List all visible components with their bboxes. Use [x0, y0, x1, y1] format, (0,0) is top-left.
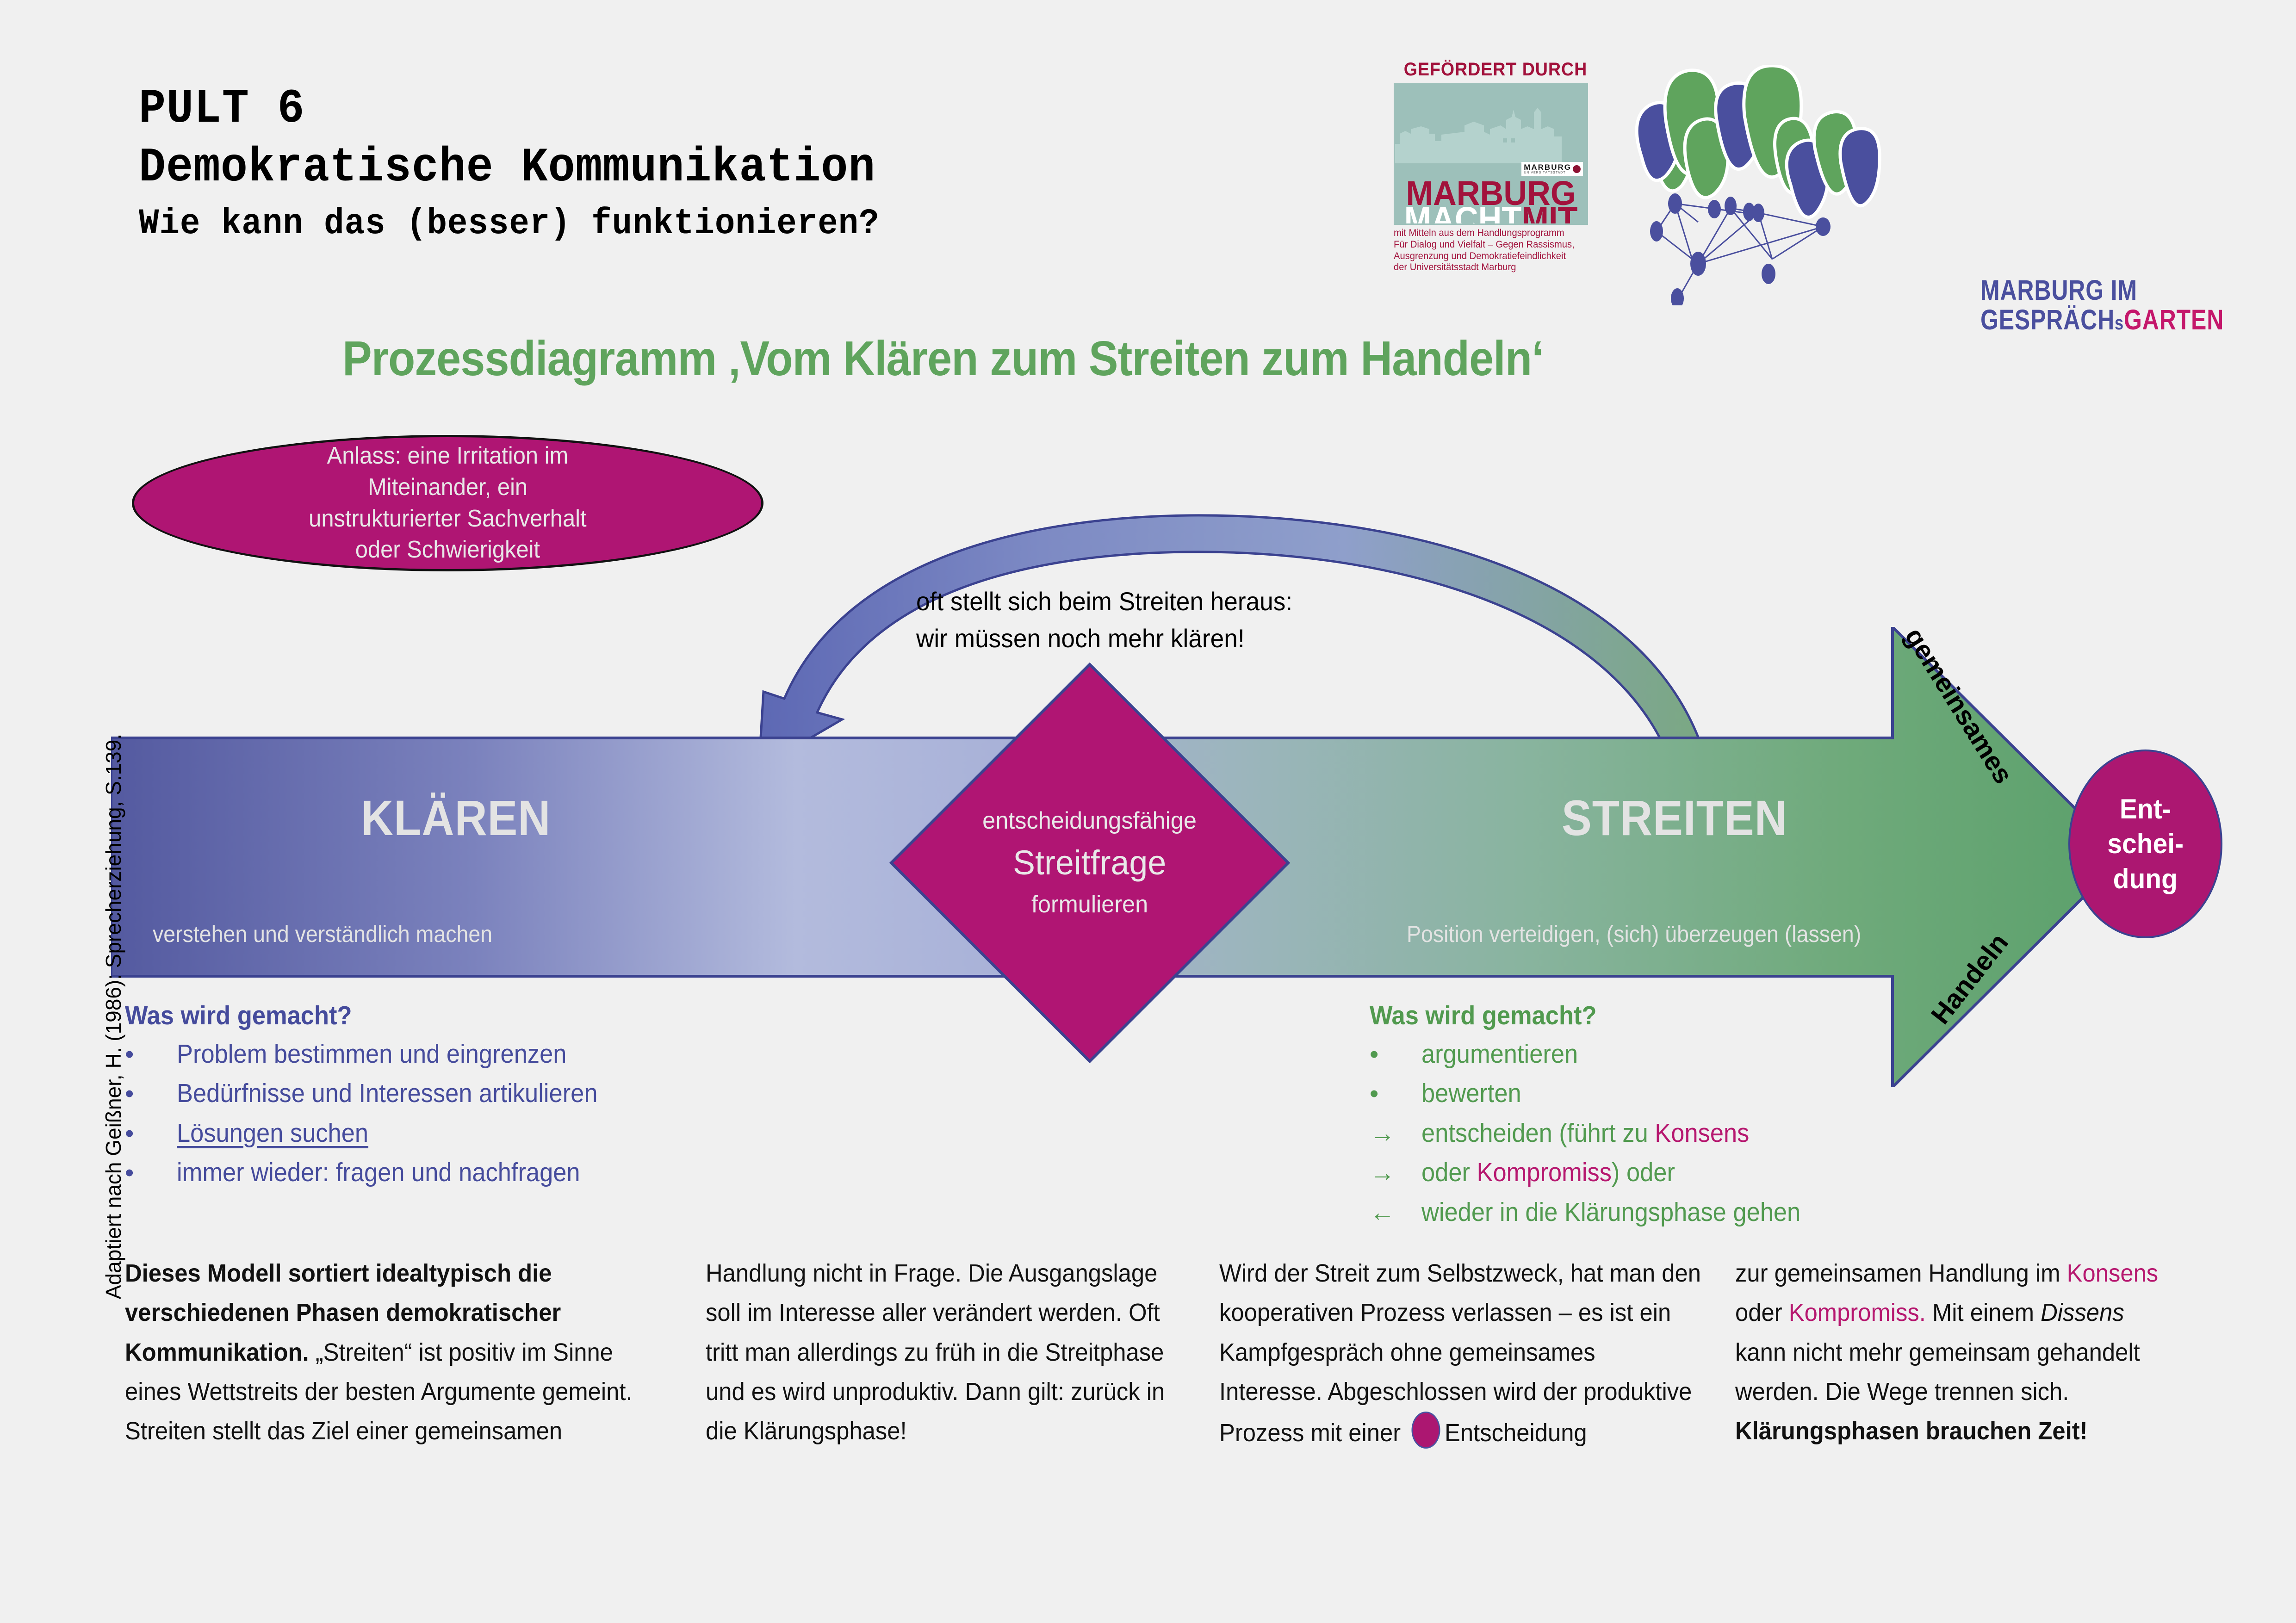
- entscheidung-line-3: dung: [2113, 861, 2178, 897]
- list-item-label: argumentieren: [1421, 1035, 1578, 1074]
- arrow-right-icon: →: [1370, 1114, 1421, 1152]
- funder-kicker: GEFÖRDERT DURCH: [1400, 60, 1591, 79]
- decision-dot-icon: [1412, 1412, 1440, 1449]
- poster-header: PULT 6 Demokratische Kommunikation Wie k…: [139, 81, 1249, 250]
- entscheidung-line-2: schei-: [2107, 826, 2184, 861]
- explanation-column-2: Handlung nicht in Frage. Die Ausgangslag…: [706, 1254, 1219, 1453]
- list-item-label: wieder in die Klärungsphase gehen: [1421, 1193, 1800, 1233]
- pult-number: PULT 6: [139, 81, 1172, 138]
- col4-text-c: Mit einem: [1926, 1299, 2041, 1326]
- phase-klaeren-subtitle: verstehen und verständlich machen: [153, 921, 492, 948]
- funder-caption: mit Mitteln aus dem Handlungsprogramm Fü…: [1394, 228, 1589, 273]
- gespraechsgarten-logo: MARBURG IM GESPRÄCHsGARTEN: [1606, 65, 2253, 305]
- anlass-line-2: Miteinander, ein: [368, 472, 527, 503]
- anlass-line-4: oder Schwierigkeit: [355, 534, 540, 566]
- list-item-label: oder Kompromiss) oder: [1421, 1153, 1675, 1193]
- explanation-column-3: Wird der Streit zum Selbstzweck, hat man…: [1219, 1254, 1735, 1453]
- phase-streiten-subtitle: Position verteidigen, (sich) überzeugen …: [1407, 921, 1861, 948]
- poster-question: Wie kann das (besser) funktionieren?: [139, 198, 1172, 250]
- list-item: •argumentieren: [1370, 1035, 1948, 1074]
- bullet-icon: •: [125, 1114, 177, 1152]
- page-title: Prozessdiagramm ‚Vom Klären zum Streiten…: [342, 331, 1544, 387]
- logo-line-2: GESPRÄCHsGARTEN: [1980, 305, 2224, 335]
- bullet-icon: •: [125, 1035, 177, 1073]
- list-item: •Bedürfnisse und Interessen artikulieren: [125, 1074, 819, 1114]
- explanation-columns: Dieses Modell sortiert idealtypisch die …: [125, 1254, 2198, 1453]
- return-caption-line-1: oft stellt sich beim Streiten heraus:: [916, 583, 1292, 620]
- list-item: •Lösungen suchen: [125, 1114, 819, 1153]
- explanation-column-4: zur gemeinsamen Handlung im Konsens oder…: [1735, 1254, 2198, 1453]
- bullet-icon: •: [125, 1074, 177, 1113]
- col3-text-b: Entscheidung: [1445, 1419, 1587, 1447]
- entscheidung-ellipse: Ent- schei- dung: [2068, 750, 2222, 938]
- col4-konsens: Konsens: [2067, 1259, 2159, 1287]
- diamond-line-3: formulieren: [1031, 887, 1148, 922]
- list-item-label: Bedürfnisse und Interessen artikulieren: [177, 1074, 597, 1114]
- list-item: →oder Kompromiss) oder: [1370, 1153, 1948, 1193]
- phase-streiten-title: STREITEN: [1562, 789, 1787, 847]
- bullet-icon: •: [1370, 1035, 1421, 1073]
- col4-bold-tail: Klärungsphasen brauchen Zeit!: [1735, 1417, 2088, 1445]
- stamp-wordmark: MARBURGUNIVERSITÄTSSTADT: [1524, 163, 1571, 174]
- explanation-column-1: Dieses Modell sortiert idealtypisch die …: [125, 1254, 706, 1453]
- bullet-icon: •: [1370, 1074, 1421, 1113]
- arrow-right-icon: →: [1370, 1153, 1421, 1192]
- col2-text: Handlung nicht in Frage. Die Ausgangslag…: [706, 1254, 1188, 1451]
- list-item-label: immer wieder: fragen und nachfragen: [177, 1153, 580, 1193]
- streiten-activity-list: Was wird gemacht? •argumentieren •bewert…: [1370, 997, 1948, 1232]
- list-item-label: Lösungen suchen: [177, 1114, 368, 1153]
- klaeren-list-heading: Was wird gemacht?: [125, 997, 763, 1035]
- gespraechsgarten-wordmark: MARBURG IM GESPRÄCHsGARTEN: [1980, 275, 2277, 335]
- anlass-ellipse: Anlass: eine Irritation im Miteinander, …: [132, 435, 763, 571]
- funder-logo-box: MARBURGUNIVERSITÄTSSTADT MARBURG MACHTMI…: [1394, 83, 1588, 225]
- col4-text-a: zur gemeinsamen Handlung im: [1735, 1259, 2067, 1287]
- source-citation: Adaptiert nach Geißner, H. (1986): Sprec…: [101, 704, 126, 1329]
- poster-subject: Demokratische Kommunikation: [139, 138, 1172, 198]
- funder-logo: GEFÖRDERT DURCH MARBURGUNIVERSITÄTSSTADT…: [1394, 60, 1597, 273]
- streitfrage-diamond: entscheidungsfähige Streitfrage formulie…: [888, 662, 1291, 1064]
- streiten-list-heading: Was wird gemacht?: [1370, 997, 1902, 1035]
- list-item: •immer wieder: fragen und nachfragen: [125, 1153, 819, 1193]
- anlass-line-3: unstrukturierter Sachverhalt: [309, 503, 586, 535]
- diamond-line-1: entscheidungsfähige: [983, 804, 1197, 838]
- col4-text-d: kann nicht mehr gemeinsam gehandelt werd…: [1735, 1338, 2140, 1406]
- list-item-label: Problem bestimmen und eingrenzen: [177, 1035, 566, 1074]
- poster-canvas: PULT 6 Demokratische Kommunikation Wie k…: [0, 0, 2296, 1623]
- logo-line-1: MARBURG IM: [1980, 275, 2224, 305]
- col4-text-b: oder: [1735, 1299, 1789, 1326]
- col4-kompromiss: Kompromiss.: [1789, 1299, 1926, 1326]
- marburg-seal-icon: [1573, 165, 1581, 173]
- phase-klaeren-title: KLÄREN: [361, 789, 551, 847]
- klaeren-activity-list: Was wird gemacht? •Problem bestimmen und…: [125, 997, 819, 1193]
- diamond-line-2: Streitfrage: [1013, 838, 1166, 887]
- list-item: ←wieder in die Klärungsphase gehen: [1370, 1193, 1948, 1233]
- marburg-skyline-icon: [1395, 108, 1587, 163]
- col4-dissens: Dissens: [2041, 1299, 2124, 1326]
- list-item-label: entscheiden (führt zu Konsens: [1421, 1114, 1749, 1153]
- list-item: →entscheiden (führt zu Konsens: [1370, 1114, 1948, 1153]
- bullet-icon: •: [125, 1153, 177, 1192]
- list-item: •bewerten: [1370, 1074, 1948, 1114]
- entscheidung-line-1: Ent-: [2120, 792, 2171, 827]
- list-item-label: bewerten: [1421, 1074, 1521, 1114]
- list-item: •Problem bestimmen und eingrenzen: [125, 1035, 819, 1074]
- leaf-plant-icon: [1606, 65, 1985, 305]
- arrow-left-icon: ←: [1370, 1193, 1421, 1232]
- anlass-line-1: Anlass: eine Irritation im: [327, 440, 569, 472]
- funder-word-bottom: MACHTMIT: [1400, 206, 1582, 225]
